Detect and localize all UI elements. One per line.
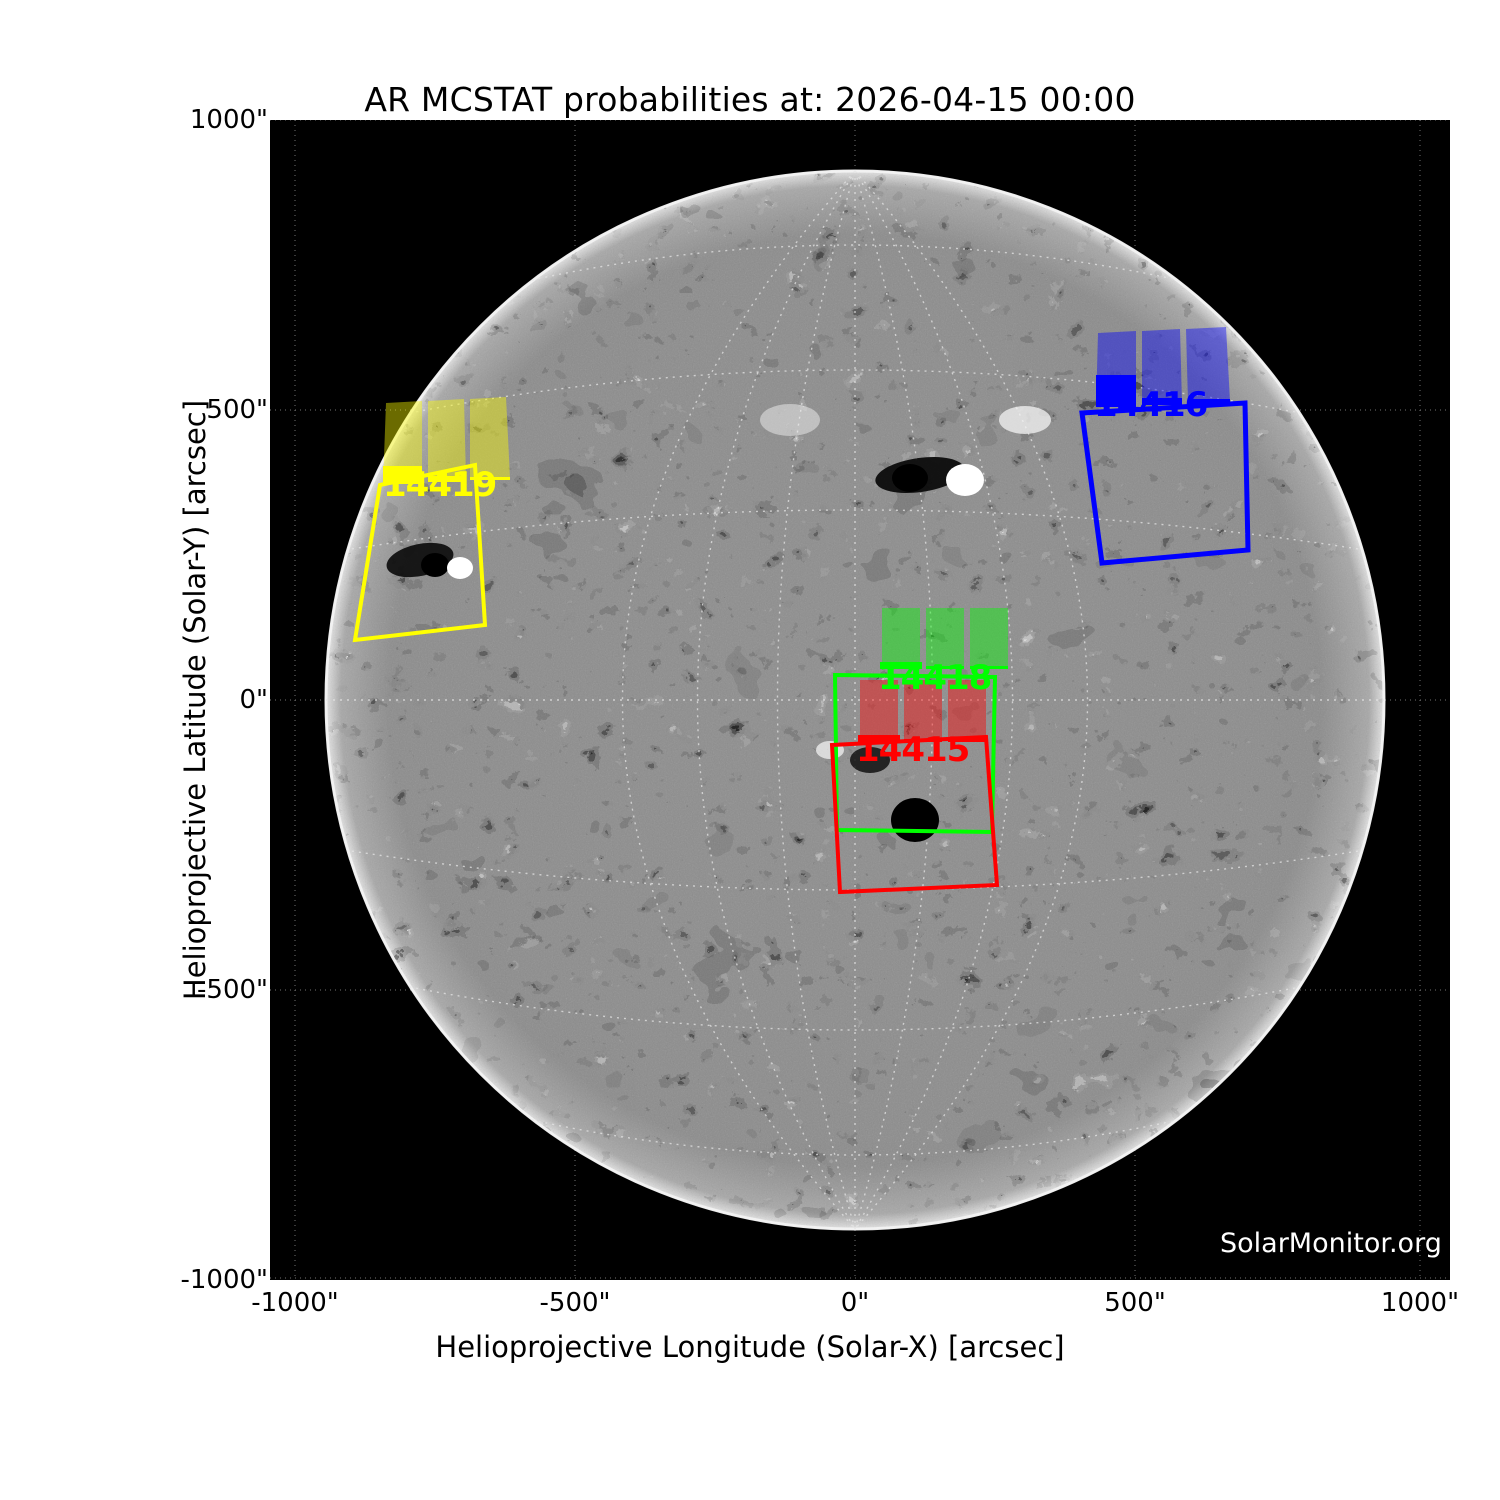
solar-disk-canvas: [270, 120, 1450, 1280]
x-tick-label: 0": [841, 1288, 870, 1318]
solar-magnetogram-figure: AR MCSTAT probabilities at: 2026-04-15 0…: [0, 0, 1500, 1500]
plot-area: 14419 14416 14418 14415 SolarMonitor.org: [270, 120, 1450, 1280]
x-tick-label: 1000": [1381, 1288, 1459, 1318]
x-tick-label: -1000": [251, 1288, 339, 1318]
ar-label-14415[interactable]: 14415: [856, 730, 969, 770]
x-tick-label: 500": [1104, 1288, 1166, 1318]
y-axis-label: Helioprojective Latitude (Solar-Y) [arcs…: [175, 120, 215, 1280]
y-tick-label: 500": [206, 395, 268, 425]
solarmonitor-watermark: SolarMonitor.org: [1220, 1228, 1442, 1259]
ar-label-14419[interactable]: 14419: [383, 465, 496, 505]
y-tick-label: 0": [239, 685, 268, 715]
x-axis-label: Helioprojective Longitude (Solar-X) [arc…: [0, 1330, 1500, 1364]
x-tick-label: -500": [540, 1288, 611, 1318]
ar-label-14418[interactable]: 14418: [878, 658, 991, 698]
ar-label-14416[interactable]: 14416: [1094, 385, 1207, 425]
